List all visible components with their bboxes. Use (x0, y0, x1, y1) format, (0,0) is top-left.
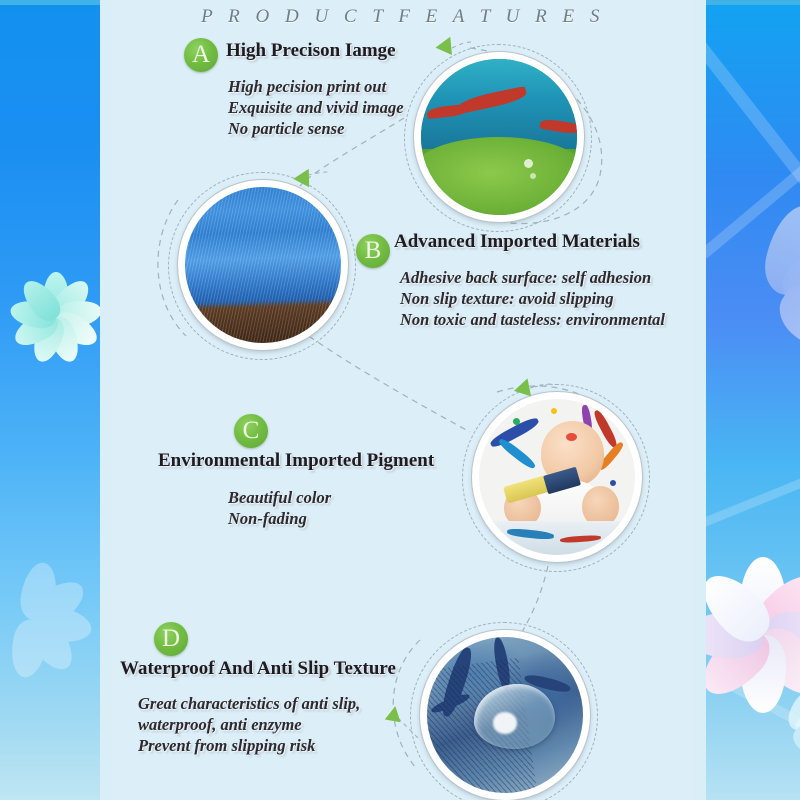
photo-baby-painting (472, 392, 642, 562)
feature-badge-b: B (356, 234, 390, 268)
feature-line: Non-fading (228, 508, 331, 529)
feature-line: Exquisite and vivid image (228, 97, 404, 118)
paint-streak (496, 436, 536, 470)
feature-lines-b: Adhesive back surface: self adhesion Non… (400, 267, 665, 330)
feature-line: Adhesive back surface: self adhesion (400, 267, 665, 288)
feature-lines-d: Great characteristics of anti slip, wate… (138, 693, 360, 756)
feature-line: High pecision print out (228, 76, 404, 97)
pond-image (421, 59, 577, 215)
paint-splat (551, 408, 557, 414)
fabric-image (185, 187, 341, 343)
feature-line: Prevent from slipping risk (138, 735, 360, 756)
feature-lines-c: Beautiful color Non-fading (228, 487, 331, 529)
photo-water-droplet-texture (420, 630, 590, 800)
water-bubble (524, 159, 533, 168)
feature-badge-d: D (154, 622, 188, 656)
feature-line: Non toxic and tasteless: environmental (400, 309, 665, 330)
product-features-infographic: P R O D U C T F E A T U R E S A High Pre… (0, 0, 800, 800)
photo-inner-b (185, 187, 341, 343)
feature-title-a: High Precison Iamge (226, 40, 396, 62)
photo-inner-c (479, 399, 635, 555)
droplet-image (427, 637, 583, 793)
photo-inner-a (421, 59, 577, 215)
photo-inner-d (427, 637, 583, 793)
feature-line: Non slip texture: avoid slipping (400, 288, 665, 309)
feature-line: Beautiful color (228, 487, 331, 508)
fabric-weave-texture (185, 187, 341, 343)
feature-title-c: Environmental Imported Pigment (158, 450, 434, 472)
pond-grass (421, 137, 577, 215)
feature-badge-c: C (234, 414, 268, 448)
baby-image (479, 399, 635, 555)
feature-title-b: Advanced Imported Materials (394, 231, 640, 253)
feature-lines-a: High pecision print out Exquisite and vi… (228, 76, 404, 139)
paint-splat (610, 480, 616, 486)
painted-floor (479, 521, 635, 555)
feature-line: No particle sense (228, 118, 404, 139)
feature-line: Great characteristics of anti slip, (138, 693, 360, 714)
arrow-marker-d (385, 705, 403, 723)
feature-badge-a: A (184, 38, 218, 72)
feature-title-d: Waterproof And Anti Slip Texture (120, 658, 396, 680)
paint-splat (513, 418, 520, 425)
droplet-highlight (493, 712, 518, 734)
photo-blue-fabric-backing (178, 180, 348, 350)
feature-line: waterproof, anti enzyme (138, 714, 360, 735)
photo-koi-pond-mat (414, 52, 584, 222)
